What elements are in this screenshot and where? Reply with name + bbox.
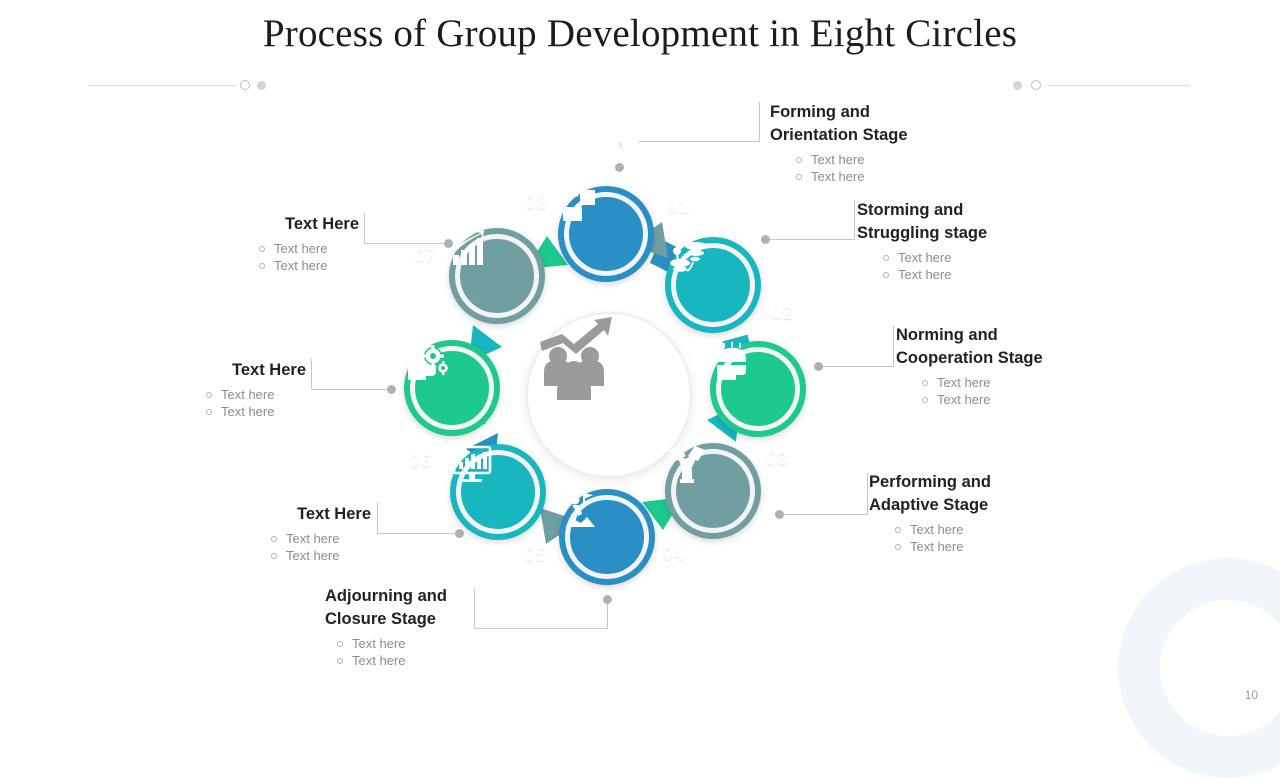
process-number-06: 06 <box>410 451 432 473</box>
callout-left-upper: Text Here Text here Text here <box>163 213 359 274</box>
process-number-04: 04 <box>662 544 684 566</box>
callout-bullet: Text here <box>335 653 447 670</box>
callout-bullet: Text here <box>794 169 908 186</box>
callout-bullet: Text here <box>335 636 447 653</box>
callout-adjourning: Adjourning and Closure Stage Text here T… <box>325 585 447 669</box>
circle-outline-icon <box>1031 80 1041 90</box>
callout-bullets: Text here Text here <box>269 531 371 564</box>
connector-stem-left-upper <box>364 213 365 244</box>
callout-title: Text Here <box>175 503 371 526</box>
callout-bullets: Text here Text here <box>893 522 991 555</box>
process-node-07[interactable] <box>404 340 500 436</box>
callout-bullet: Text here <box>204 404 306 421</box>
connector-dot-norming <box>814 362 823 371</box>
connector-dot-left-middle <box>387 385 396 394</box>
connector-line-adjourning <box>474 628 608 629</box>
connector-dot-left-upper <box>444 239 453 248</box>
callout-title: Norming and Cooperation Stage <box>896 324 1043 370</box>
callout-title: Storming and Struggling stage <box>857 199 987 245</box>
process-node-04[interactable] <box>665 443 761 539</box>
connector-riser-adjourning <box>607 600 608 629</box>
callout-bullets: Text here Text here <box>920 375 1043 408</box>
callout-norming: Norming and Cooperation Stage Text here … <box>896 324 1043 408</box>
callout-bullet: Text here <box>794 152 908 169</box>
page-number: 10 <box>1245 688 1258 702</box>
connector-stem-forming <box>759 102 760 142</box>
callout-storming: Storming and Struggling stage Text here … <box>857 199 987 283</box>
callout-forming: Forming and Orientation Stage Text here … <box>770 101 908 185</box>
process-number-01: 01 <box>667 197 689 219</box>
callout-bullets: Text here Text here <box>257 241 359 274</box>
callout-bullet: Text here <box>257 258 359 275</box>
callout-bullet: Text here <box>920 392 1043 409</box>
connector-line-storming <box>770 239 855 240</box>
connector-stem-adjourning <box>474 588 475 629</box>
callout-bullets: Text here Text here <box>204 387 306 420</box>
connector-line-left-upper <box>364 243 448 244</box>
connector-stem-left-lower <box>377 503 378 534</box>
connector-stem-storming <box>854 200 855 240</box>
callout-left-lower: Text Here Text here Text here <box>175 503 371 564</box>
connector-dot-performing <box>775 510 784 519</box>
process-node-06[interactable] <box>450 444 546 540</box>
callout-bullets: Text here Text here <box>881 250 987 283</box>
callout-bullet: Text here <box>257 241 359 258</box>
callout-performing: Performing and Adaptive Stage Text here … <box>869 471 991 555</box>
process-node-02[interactable] <box>665 237 761 333</box>
process-wheel-diagram: 01 02 <box>383 155 833 620</box>
callout-bullet: Text here <box>881 267 987 284</box>
callout-bullets: Text here Text here <box>335 636 447 669</box>
connector-line-norming <box>822 366 894 367</box>
header-rule-right <box>1048 85 1190 86</box>
connector-elbow-forming <box>619 142 623 148</box>
callout-title: Performing and Adaptive Stage <box>869 471 991 517</box>
connector-stem-left-middle <box>311 359 312 390</box>
connector-line-left-lower <box>377 533 459 534</box>
process-number-03: 03 <box>766 449 788 471</box>
ring-watermark-icon <box>1118 558 1280 778</box>
callout-title: Text Here <box>110 359 306 382</box>
circle-outline-icon <box>240 80 250 90</box>
page-title: Process of Group Development in Eight Ci… <box>0 11 1280 56</box>
callout-bullet: Text here <box>269 548 371 565</box>
connector-stem-norming <box>893 326 894 366</box>
callout-title: Adjourning and Closure Stage <box>325 585 447 631</box>
process-number-05: 05 <box>524 545 546 567</box>
callout-bullet: Text here <box>881 250 987 267</box>
process-node-03[interactable] <box>710 341 806 437</box>
process-node-01[interactable] <box>558 186 654 282</box>
callout-bullets: Text here Text here <box>794 152 908 185</box>
callout-bullet: Text here <box>920 375 1043 392</box>
connector-line-forming <box>639 141 760 142</box>
callout-bullet: Text here <box>893 539 991 556</box>
connector-dot-forming <box>615 163 624 172</box>
callout-title: Forming and Orientation Stage <box>770 101 908 147</box>
connector-dot-left-lower <box>455 529 464 538</box>
process-node-08[interactable] <box>449 228 545 324</box>
callout-title: Text Here <box>163 213 359 236</box>
process-number-07: 07 <box>414 246 436 268</box>
callout-bullet: Text here <box>893 522 991 539</box>
process-number-08: 08 <box>525 193 547 215</box>
callout-left-middle: Text Here Text here Text here <box>110 359 306 420</box>
process-node-05[interactable] <box>559 489 655 585</box>
process-number-02: 02 <box>771 303 793 325</box>
circle-filled-icon <box>1013 81 1022 90</box>
connector-dot-storming <box>761 235 770 244</box>
connector-stem-performing <box>867 473 868 515</box>
connector-dot-adjourning <box>603 595 612 604</box>
header-rule-left <box>88 85 236 86</box>
circle-filled-icon <box>257 81 266 90</box>
connector-line-performing <box>784 514 868 515</box>
callout-bullet: Text here <box>269 531 371 548</box>
connector-line-left-middle <box>311 389 392 390</box>
callout-bullet: Text here <box>204 387 306 404</box>
